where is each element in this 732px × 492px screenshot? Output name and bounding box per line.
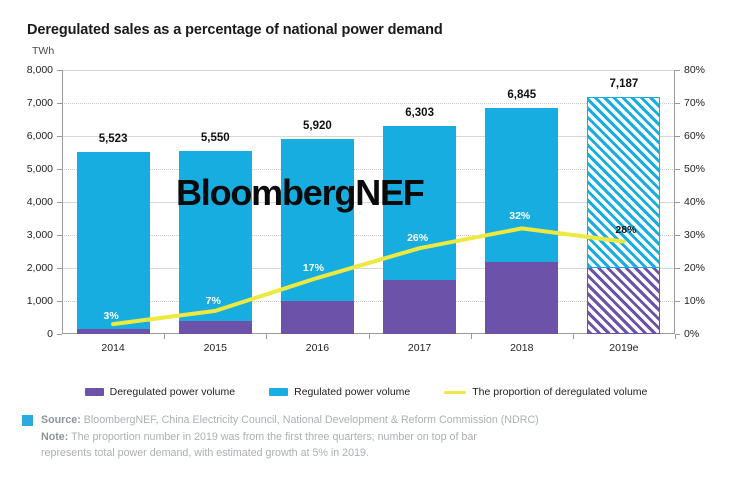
y-axis-tick-label: 2,000 bbox=[27, 262, 53, 274]
footer-source-line: Source: BloombergNEF, China Electricity … bbox=[41, 412, 539, 429]
y-axis-tick-label: 5,000 bbox=[27, 163, 53, 175]
source-marker-icon bbox=[22, 415, 33, 426]
legend-item[interactable]: Deregulated power volume bbox=[85, 386, 236, 398]
bar-total-label: 6,303 bbox=[405, 107, 434, 119]
bar-total-label: 5,523 bbox=[99, 133, 128, 145]
y-axis-right-tick-label: 30% bbox=[684, 229, 705, 241]
legend-label: The proportion of deregulated volume bbox=[472, 386, 647, 398]
y-axis-right-tick-label: 80% bbox=[684, 64, 705, 76]
bar-total-label: 7,187 bbox=[610, 78, 639, 90]
y-axis-tick-label: 1,000 bbox=[27, 295, 53, 307]
y-axis-right-tick-label: 70% bbox=[684, 97, 705, 109]
note-label: Note: bbox=[41, 431, 68, 443]
y-axis-right-tick-label: 20% bbox=[684, 262, 705, 274]
footer-note-line-2: represents total power demand, with esti… bbox=[41, 445, 539, 462]
proportion-point-label: 26% bbox=[407, 232, 428, 244]
proportion-point-label: 17% bbox=[303, 262, 324, 274]
legend-swatch-reg-icon bbox=[269, 388, 288, 396]
footer-note-line-1: Note: The proportion number in 2019 was … bbox=[41, 429, 539, 446]
legend-label: Deregulated power volume bbox=[110, 386, 236, 398]
footer-text: Source: BloombergNEF, China Electricity … bbox=[41, 412, 539, 462]
x-axis-tick-label: 2017 bbox=[408, 342, 431, 354]
y-axis-right-tick-label: 50% bbox=[684, 163, 705, 175]
footer: Source: BloombergNEF, China Electricity … bbox=[22, 412, 722, 462]
x-axis-tick bbox=[471, 334, 472, 339]
bar-total-label: 5,550 bbox=[201, 132, 230, 144]
source-label: Source: bbox=[41, 414, 81, 426]
legend-swatch-dereg-icon bbox=[85, 388, 104, 396]
legend-item[interactable]: The proportion of deregulated volume bbox=[444, 386, 647, 398]
source-text: BloombergNEF, China Electricity Council,… bbox=[81, 414, 539, 426]
y-axis-right-tick bbox=[675, 235, 680, 236]
y-axis-right-tick bbox=[675, 268, 680, 269]
y-axis-tick-label: 4,000 bbox=[27, 196, 53, 208]
legend-swatch-line-icon bbox=[444, 391, 466, 394]
y-axis-tick bbox=[57, 334, 62, 335]
y-axis-tick-label: 3,000 bbox=[27, 229, 53, 241]
x-axis-tick-label: 2015 bbox=[204, 342, 227, 354]
bar-total-label: 5,920 bbox=[303, 120, 332, 132]
note-text-1: The proportion number in 2019 was from t… bbox=[68, 431, 477, 443]
y-axis-right-tick bbox=[675, 136, 680, 137]
x-axis-tick bbox=[266, 334, 267, 339]
x-axis-tick bbox=[164, 334, 165, 339]
y-axis-tick-label: 7,000 bbox=[27, 97, 53, 109]
y-axis-right-tick bbox=[675, 169, 680, 170]
y-axis-tick-label: 0 bbox=[47, 328, 53, 340]
y-axis-right-tick bbox=[675, 70, 680, 71]
x-axis-tick-label: 2019e bbox=[609, 342, 638, 354]
proportion-point-label: 28% bbox=[615, 224, 636, 236]
proportion-point-label: 3% bbox=[103, 310, 118, 322]
chart-page: Deregulated sales as a percentage of nat… bbox=[0, 0, 732, 492]
legend-item[interactable]: Regulated power volume bbox=[269, 386, 410, 398]
chart-area: 01,0002,0003,0004,0005,0006,0007,0008,00… bbox=[0, 0, 732, 360]
x-axis-tick-label: 2016 bbox=[306, 342, 329, 354]
x-axis-tick bbox=[573, 334, 574, 339]
proportion-line-path bbox=[113, 228, 624, 324]
y-axis-tick-label: 8,000 bbox=[27, 64, 53, 76]
y-axis-right-tick bbox=[675, 103, 680, 104]
y-axis-tick-label: 6,000 bbox=[27, 130, 53, 142]
y-axis-right-tick-label: 40% bbox=[684, 196, 705, 208]
proportion-point-label: 7% bbox=[206, 295, 221, 307]
bar-total-label: 6,845 bbox=[507, 89, 536, 101]
chart-legend: Deregulated power volumeRegulated power … bbox=[0, 386, 732, 398]
watermark: BloombergNEF bbox=[176, 172, 424, 214]
y-axis-right-tick-label: 0% bbox=[684, 328, 699, 340]
y-axis-right-tick-label: 60% bbox=[684, 130, 705, 142]
proportion-point-label: 32% bbox=[509, 210, 530, 222]
legend-label: Regulated power volume bbox=[294, 386, 410, 398]
y-axis-right-tick-label: 10% bbox=[684, 295, 705, 307]
y-axis-right-tick bbox=[675, 202, 680, 203]
y-axis-right-tick bbox=[675, 301, 680, 302]
x-axis-tick bbox=[675, 334, 676, 339]
x-axis-tick-label: 2014 bbox=[101, 342, 124, 354]
x-axis-tick bbox=[369, 334, 370, 339]
x-axis-tick-label: 2018 bbox=[510, 342, 533, 354]
